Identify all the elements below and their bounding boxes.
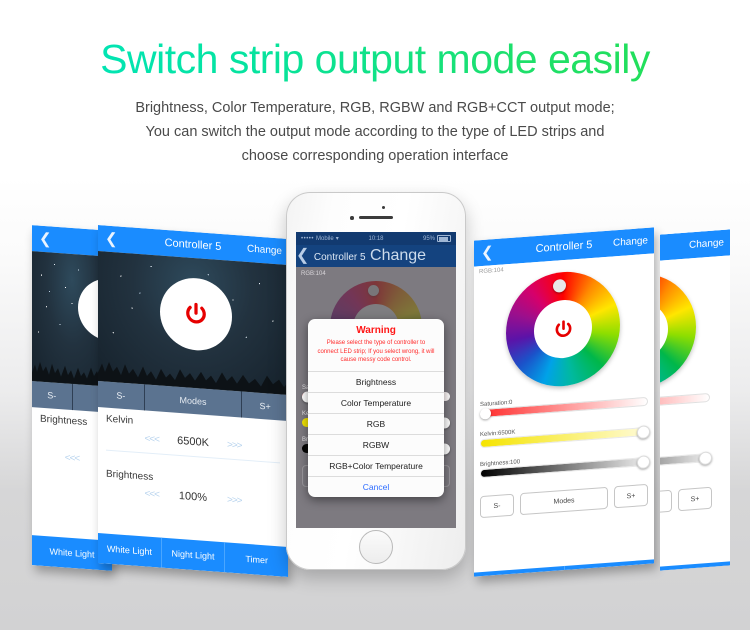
nav-timer[interactable]: Timer	[565, 559, 655, 576]
screen4-bottom-nav[interactable]: White Light Timer	[474, 559, 654, 576]
brightness-increase-arrows[interactable]: >>>	[227, 494, 242, 506]
kelvin-increase-arrows[interactable]: >>>	[227, 439, 242, 451]
brightness-slider[interactable]	[660, 453, 710, 474]
screen-card-rgb-far: Change S+ Timer	[660, 229, 730, 570]
battery-percent-label: 95%	[423, 236, 435, 242]
dialog-option-rgb-color-temperature[interactable]: RGB+Color Temperature	[308, 455, 444, 476]
dialog-option-brightness[interactable]: Brightness	[308, 371, 444, 392]
saturation-slider[interactable]: Saturation:0	[480, 390, 648, 418]
power-icon	[183, 300, 209, 328]
kelvin-value: 6500K	[175, 435, 211, 450]
brightness-handle[interactable]	[699, 451, 712, 465]
color-wheel-handle[interactable]	[368, 285, 379, 296]
screen2-night-background	[98, 251, 288, 395]
rgb-value-label: RGB:104	[479, 267, 504, 275]
front-camera-icon	[350, 216, 354, 220]
back-icon[interactable]: ❮	[39, 231, 52, 247]
center-navbar: ❮ Controller 5 Change	[296, 245, 456, 267]
change-button[interactable]: Change	[370, 247, 426, 264]
wifi-icon: ▾	[336, 235, 339, 242]
color-wheel-center[interactable]	[660, 300, 668, 362]
screen2-brightness-control: Brightness <<< 100% >>>	[98, 462, 288, 510]
subtitle-line-3: choose corresponding operation interface	[0, 144, 750, 168]
brightness-decrease-arrows[interactable]: <<<	[65, 452, 80, 464]
saturation-handle[interactable]	[480, 407, 491, 419]
power-icon	[553, 318, 574, 341]
battery-icon	[437, 235, 451, 242]
screen4-button-row: S- Modes S+	[480, 484, 648, 518]
status-bar: ••••• Mobile ▾ 10:18 95%	[296, 232, 456, 245]
screen-card-rgb: ❮ Controller 5 Change RGB:104 Saturation…	[474, 227, 654, 576]
brightness-value: 100%	[175, 490, 211, 505]
modes-button[interactable]	[660, 490, 672, 518]
page-title: Switch strip output mode easily	[0, 36, 750, 83]
mode-s-minus[interactable]: S-	[98, 381, 145, 410]
brightness-slider[interactable]: Brightness:100	[480, 450, 648, 478]
speed-up-button[interactable]: S+	[614, 484, 648, 508]
mode-s-plus[interactable]: S+	[242, 392, 288, 421]
phone-top-bezel	[286, 192, 466, 232]
color-wheel-center[interactable]	[534, 298, 592, 360]
brightness-decrease-arrows[interactable]: <<<	[144, 488, 159, 500]
dialog-cancel-button[interactable]: Cancel	[308, 476, 444, 497]
dialog-option-color-temperature[interactable]: Color Temperature	[308, 392, 444, 413]
warning-dialog: Warning Please select the type of contro…	[308, 319, 444, 497]
phone-device-center: ••••• Mobile ▾ 10:18 95% ❮ Controller 5 …	[286, 192, 466, 570]
color-wheel[interactable]	[660, 270, 696, 392]
color-wheel-handle[interactable]	[553, 279, 566, 293]
saturation-slider[interactable]	[660, 393, 710, 414]
change-button[interactable]: Change	[689, 237, 724, 251]
carrier-label: Mobile	[316, 236, 334, 242]
screen2-bottom-nav[interactable]: White Light Night Light Timer	[98, 533, 288, 577]
phone-screen-rgb[interactable]: ❮ Controller 5 Change RGB:104 Saturation…	[474, 227, 654, 576]
kelvin-slider[interactable]: Kelvin:6500K	[480, 420, 648, 448]
speed-up-button[interactable]: S+	[678, 487, 712, 511]
phone-screen-cct[interactable]: ❮ Controller 5 Change S- Modes S+ Kelvin	[98, 225, 288, 577]
page-subtitle: Brightness, Color Temperature, RGB, RGBW…	[0, 96, 750, 168]
subtitle-line-1: Brightness, Color Temperature, RGB, RGBW…	[0, 96, 750, 120]
battery-indicator: 95%	[423, 235, 451, 242]
back-icon[interactable]: ❮	[296, 247, 309, 264]
color-wheel[interactable]	[506, 268, 620, 390]
screen5-button-row: S+	[660, 487, 712, 521]
signal-dots-icon: •••••	[301, 236, 314, 242]
nav-white-light[interactable]: White Light	[474, 566, 565, 577]
screen4-body: RGB:104 Saturation:0 Kelvin:6500K	[474, 253, 654, 576]
screen5-bottom-nav[interactable]: Timer	[660, 561, 730, 570]
phone-bottom-bezel	[286, 528, 466, 570]
modes-button[interactable]: Modes	[520, 487, 608, 515]
nav-timer[interactable]: Timer	[660, 561, 730, 570]
dialog-option-rgb[interactable]: RGB	[308, 413, 444, 434]
dialog-title: Warning	[308, 319, 444, 339]
speed-down-button[interactable]: S-	[480, 494, 514, 518]
nav-timer[interactable]: Timer	[225, 542, 288, 577]
phone-screen-center: ••••• Mobile ▾ 10:18 95% ❮ Controller 5 …	[296, 232, 456, 528]
nav-white-light[interactable]: White Light	[98, 533, 162, 568]
kelvin-handle[interactable]	[637, 425, 650, 439]
nav-night-light[interactable]: Night Light	[162, 538, 226, 573]
brightness-value-row: <<<	[40, 451, 104, 467]
clock-label: 10:18	[368, 236, 383, 242]
nav-title: Controller 5	[314, 252, 366, 263]
screen5-body: S+ Timer	[660, 255, 730, 570]
brightness-label: Brightness	[40, 414, 104, 430]
kelvin-decrease-arrows[interactable]: <<<	[144, 433, 159, 445]
dialog-option-rgbw[interactable]: RGBW	[308, 434, 444, 455]
proximity-sensor-icon	[382, 206, 385, 209]
phone-screen-rgb-far[interactable]: Change S+ Timer	[660, 229, 730, 570]
earpiece-speaker-icon	[359, 216, 393, 219]
brightness-handle[interactable]	[637, 455, 650, 469]
saturation-track[interactable]	[660, 393, 710, 414]
dialog-message: Please select the type of controller to …	[308, 339, 444, 371]
rgb-value-label: RGB:104	[301, 271, 326, 277]
center-screen-body: RGB:104 Saturation:0 Kelvin:6500K	[296, 267, 456, 528]
subtitle-line-2: You can switch the output mode according…	[0, 120, 750, 144]
screen-card-cct: ❮ Controller 5 Change S- Modes S+ Kelvin	[98, 225, 288, 577]
mode-s-minus[interactable]: S-	[32, 381, 73, 410]
brightness-track[interactable]	[660, 453, 710, 474]
home-button[interactable]	[359, 530, 393, 564]
